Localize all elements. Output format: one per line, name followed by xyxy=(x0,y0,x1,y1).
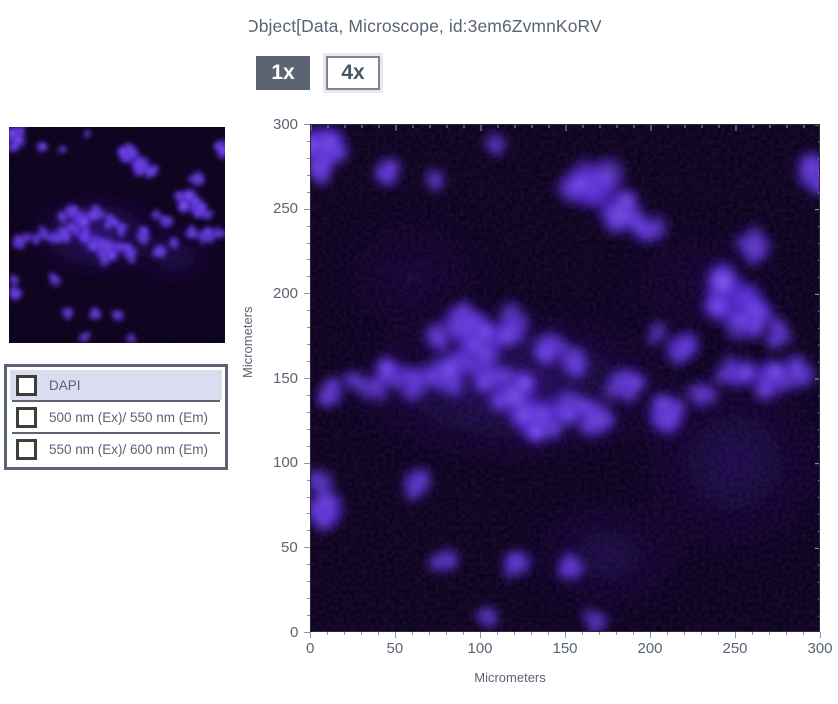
axis-tick xyxy=(735,632,736,638)
axis-tick xyxy=(307,412,310,413)
axis-tick xyxy=(307,513,310,514)
legend-swatch-550-600 xyxy=(16,439,37,460)
x-tick-label: 50 xyxy=(387,640,404,657)
legend-row-550-600[interactable]: 550 nm (Ex)/ 600 nm (Em) xyxy=(10,434,222,464)
axis-tick xyxy=(769,632,770,635)
axis-tick xyxy=(307,581,310,582)
axis-tick xyxy=(307,141,310,142)
axis-tick xyxy=(304,463,310,464)
legend-row-500-550[interactable]: 500 nm (Ex)/ 550 nm (Em) xyxy=(10,402,222,432)
axis-tick xyxy=(480,632,481,638)
x-axis-title: Micrometers xyxy=(474,670,546,685)
channel-legend[interactable]: DAPI 500 nm (Ex)/ 550 nm (Em) 550 nm (Ex… xyxy=(4,364,228,470)
axis-tick xyxy=(307,446,310,447)
axis-tick xyxy=(304,378,310,379)
axis-tick xyxy=(307,344,310,345)
y-tick-label: 50 xyxy=(281,539,298,556)
y-tick-label: 300 xyxy=(273,116,298,133)
axis-tick xyxy=(307,175,310,176)
axis-tick xyxy=(684,632,685,635)
y-tick-label: 200 xyxy=(273,285,298,302)
axis-tick xyxy=(307,243,310,244)
axis-tick xyxy=(667,632,668,635)
axis-tick xyxy=(548,632,549,635)
axis-tick xyxy=(752,632,753,635)
magnification-selector[interactable]: 1x 4x xyxy=(256,56,380,90)
thumbnail-micrograph xyxy=(9,127,225,343)
x-tick-label: 200 xyxy=(638,640,663,657)
axis-tick xyxy=(307,598,310,599)
axis-tick xyxy=(307,259,310,260)
axis-tick xyxy=(304,124,310,125)
axis-tick xyxy=(304,547,310,548)
image-thumbnail[interactable] xyxy=(9,127,225,343)
y-tick-label: 0 xyxy=(290,624,298,641)
axis-tick xyxy=(446,632,447,635)
plot-frame[interactable] xyxy=(310,124,820,632)
axis-tick xyxy=(599,632,600,635)
axis-tick xyxy=(307,327,310,328)
page-title: Object[Data, Microscope, id:3em6ZvmnKoRV… xyxy=(249,14,601,38)
zoom-button-1x[interactable]: 1x xyxy=(256,56,310,90)
page-title-text: Object[Data, Microscope, id:3em6ZvmnKoRV… xyxy=(249,14,601,38)
x-tick-label: 100 xyxy=(468,640,493,657)
axis-tick xyxy=(307,361,310,362)
y-tick-label: 150 xyxy=(273,370,298,387)
axis-tick xyxy=(531,632,532,635)
axis-tick xyxy=(650,632,651,638)
legend-row-dapi[interactable]: DAPI xyxy=(10,370,222,400)
axis-tick xyxy=(361,632,362,635)
axis-tick xyxy=(307,564,310,565)
axis-tick xyxy=(307,530,310,531)
axis-tick xyxy=(307,310,310,311)
axis-tick xyxy=(310,632,311,638)
axis-tick xyxy=(344,632,345,635)
legend-swatch-dapi xyxy=(16,375,37,396)
axis-tick xyxy=(378,632,379,635)
micrograph-image xyxy=(311,125,819,631)
axis-tick xyxy=(497,632,498,635)
x-tick-label: 300 xyxy=(808,640,833,657)
axis-tick xyxy=(616,632,617,635)
axis-tick xyxy=(307,429,310,430)
axis-tick xyxy=(803,632,804,635)
axis-tick xyxy=(307,226,310,227)
legend-label-550-600: 550 nm (Ex)/ 600 nm (Em) xyxy=(49,442,208,457)
axis-tick xyxy=(307,276,310,277)
axis-tick xyxy=(633,632,634,635)
x-tick-label: 250 xyxy=(723,640,748,657)
zoom-button-4x[interactable]: 4x xyxy=(326,56,380,90)
legend-label-dapi: DAPI xyxy=(49,378,81,393)
y-axis-title: Micrometers xyxy=(240,306,255,378)
axis-tick xyxy=(304,632,310,633)
axis-tick xyxy=(565,632,566,638)
axis-tick xyxy=(307,615,310,616)
axis-tick xyxy=(327,632,328,635)
axis-tick xyxy=(395,632,396,638)
axis-tick xyxy=(429,632,430,635)
axis-tick xyxy=(304,293,310,294)
axis-tick xyxy=(718,632,719,635)
axis-tick xyxy=(701,632,702,635)
axis-tick xyxy=(307,192,310,193)
micrograph-plot[interactable]: 050100150200250300050100150200250300 Mic… xyxy=(248,110,832,690)
axis-tick xyxy=(514,632,515,635)
axis-tick xyxy=(304,209,310,210)
x-tick-label: 0 xyxy=(306,640,314,657)
axis-tick xyxy=(307,158,310,159)
axis-tick xyxy=(820,632,821,638)
legend-label-500-550: 500 nm (Ex)/ 550 nm (Em) xyxy=(49,410,208,425)
y-tick-label: 100 xyxy=(273,454,298,471)
y-tick-label: 250 xyxy=(273,200,298,217)
axis-tick xyxy=(786,632,787,635)
x-tick-label: 150 xyxy=(553,640,578,657)
axis-tick xyxy=(307,497,310,498)
legend-swatch-500-550 xyxy=(16,407,37,428)
axis-tick xyxy=(412,632,413,635)
axis-tick xyxy=(582,632,583,635)
axis-tick xyxy=(307,395,310,396)
axis-tick xyxy=(463,632,464,635)
axis-tick xyxy=(307,480,310,481)
